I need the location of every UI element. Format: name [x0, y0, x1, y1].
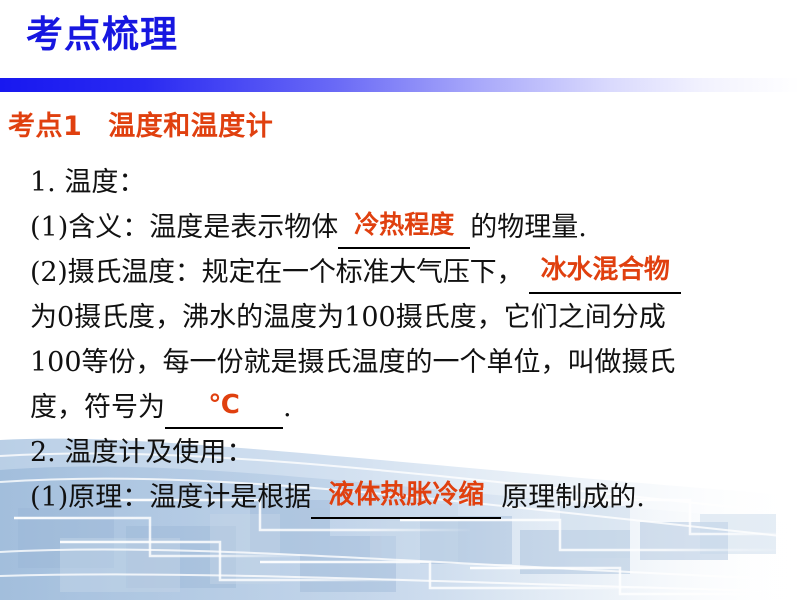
body-line-item2-heading: 2. 温度计及使用：	[30, 430, 796, 475]
line-2-1-after-text: 原理制成的.	[501, 482, 645, 513]
slide-canvas: 考点梳理 考点1温度和温度计 1. 温度： (1)含义：温度是表示物体冷热程度的…	[0, 0, 800, 600]
body-line-1-5: 度，符号为℃.	[30, 385, 796, 430]
blank-answer-degree-celsius: ℃	[165, 389, 283, 429]
line-2-1-before-text: (1)原理：温度计是根据	[30, 482, 311, 513]
blank-answer-lengre-chengdu: 冷热程度	[338, 209, 470, 249]
item1-heading-text: 1. 温度：	[30, 167, 145, 198]
line-1-5-after-text: .	[283, 392, 292, 423]
line-1-1-before-text: (1)含义：温度是表示物体	[30, 212, 338, 243]
answer-text-degree-celsius: ℃	[208, 390, 239, 420]
item2-heading-text: 2. 温度计及使用：	[30, 437, 253, 468]
section-heading: 考点1温度和温度计	[8, 104, 273, 143]
page-title: 考点梳理	[26, 13, 178, 57]
section-name: 温度和温度计	[108, 111, 273, 142]
line-1-2-before-text: (2)摄氏温度：规定在一个标准大气压下，	[30, 257, 523, 288]
body-content: 1. 温度： (1)含义：温度是表示物体冷热程度的物理量. (2)摄氏温度：规定…	[30, 160, 796, 520]
body-line-1-3: 为0摄氏度，沸水的温度为100摄氏度，它们之间分成	[30, 295, 796, 340]
blank-answer-yeti-rezhang-lengsuo: 液体热胀冷缩	[311, 479, 501, 519]
answer-text-yeti-rezhang-lengsuo: 液体热胀冷缩	[328, 480, 484, 510]
line-1-4-text: 100等份，每一份就是摄氏温度的一个单位，叫做摄氏	[30, 347, 676, 378]
line-1-3-text: 为0摄氏度，沸水的温度为100摄氏度，它们之间分成	[30, 302, 666, 333]
answer-text-lengre-chengdu: 冷热程度	[354, 210, 454, 239]
body-line-1-2: (2)摄氏温度：规定在一个标准大气压下，冰水混合物	[30, 250, 796, 295]
section-number: 考点1	[8, 111, 82, 142]
line-1-1-after-text: 的物理量.	[470, 212, 587, 243]
line-1-5-before-text: 度，符号为	[30, 392, 165, 423]
body-line-2-1: (1)原理：温度计是根据液体热胀冷缩原理制成的.	[30, 475, 796, 520]
blank-answer-bingshui-hunhewu: 冰水混合物	[529, 254, 681, 294]
title-gradient-rule	[0, 78, 800, 92]
body-line-1-4: 100等份，每一份就是摄氏温度的一个单位，叫做摄氏	[30, 340, 796, 385]
answer-text-bingshui-hunhewu: 冰水混合物	[541, 255, 670, 285]
body-line-1-1: (1)含义：温度是表示物体冷热程度的物理量.	[30, 205, 796, 250]
body-line-item1-heading: 1. 温度：	[30, 160, 796, 205]
